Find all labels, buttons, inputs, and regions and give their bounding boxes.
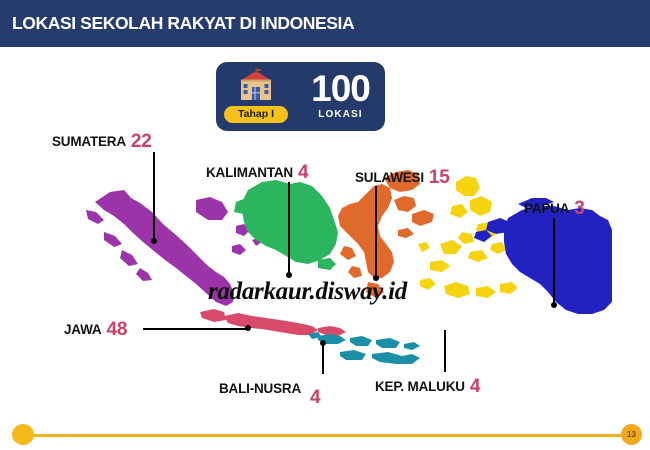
total-locations-card: Tahap I 100 LOKASI	[216, 62, 385, 131]
leader-line-jawa	[143, 328, 248, 330]
label-maluku: KEP. MALUKU4	[375, 376, 480, 398]
label-sulawesi-name: SULAWESI	[355, 170, 424, 185]
total-count: 100	[311, 71, 370, 106]
leader-line-papua	[553, 218, 555, 304]
label-papua-value: 3	[574, 198, 584, 219]
leader-line-sumatera	[153, 152, 155, 240]
leader-dot-papua	[551, 302, 557, 308]
label-jawa-value: 48	[106, 319, 127, 340]
card-right-section: 100 LOKASI	[296, 71, 385, 121]
label-maluku-name: KEP. MALUKU	[375, 379, 465, 394]
stage-badge: Tahap I	[224, 106, 288, 124]
label-sulawesi-value: 15	[429, 167, 450, 188]
label-maluku-value: 4	[470, 376, 480, 397]
map-region-kalimantan[interactable]	[234, 180, 338, 270]
footer-page-badge: 13	[621, 424, 642, 445]
label-papua: PAPUA3	[524, 198, 585, 220]
watermark-text: radarkaur.disway.id	[208, 278, 407, 306]
leader-dot-kalimantan	[286, 272, 292, 278]
leader-dot-balinusra	[320, 340, 326, 346]
map-region-jawa[interactable]	[200, 309, 346, 336]
page-number: 13	[627, 431, 636, 439]
leader-line-sulawesi	[375, 186, 377, 277]
label-kalimantan: KALIMANTAN4	[206, 162, 308, 184]
card-left-section: Tahap I	[216, 62, 296, 131]
leader-line-kalimantan	[288, 182, 290, 274]
label-balinusra-name: BALI-NUSRA	[219, 381, 301, 396]
leader-dot-sumatera	[151, 238, 157, 244]
school-building-icon	[234, 68, 278, 102]
label-kalimantan-name: KALIMANTAN	[206, 165, 293, 180]
slide-canvas: LOKASI SEKOLAH RAKYAT DI INDONESIA Tahap…	[0, 0, 650, 450]
total-unit-label: LOKASI	[318, 109, 362, 120]
label-balinusra: BALI-NUSRA4	[219, 378, 320, 400]
page-title: LOKASI SEKOLAH RAKYAT DI INDONESIA	[12, 13, 354, 34]
map-region-maluku[interactable]	[418, 176, 518, 298]
leader-line-balinusra	[322, 344, 324, 374]
label-jawa-name: JAWA	[64, 322, 101, 337]
footer-divider	[26, 434, 626, 437]
footer-left-dot	[12, 424, 34, 445]
label-papua-name: PAPUA	[524, 201, 569, 216]
label-sumatera: SUMATERA22	[52, 131, 152, 153]
leader-dot-sulawesi	[373, 275, 379, 281]
label-sumatera-name: SUMATERA	[52, 134, 126, 149]
label-balinusra-value: 4	[310, 387, 320, 409]
label-jawa: JAWA48	[64, 319, 127, 341]
label-sumatera-value: 22	[131, 131, 152, 152]
label-kalimantan-value: 4	[298, 162, 308, 183]
leader-line-maluku	[444, 330, 446, 372]
leader-dot-jawa	[245, 325, 251, 331]
label-sulawesi: SULAWESI15	[355, 167, 450, 189]
map-region-balinusra[interactable]	[308, 332, 420, 364]
